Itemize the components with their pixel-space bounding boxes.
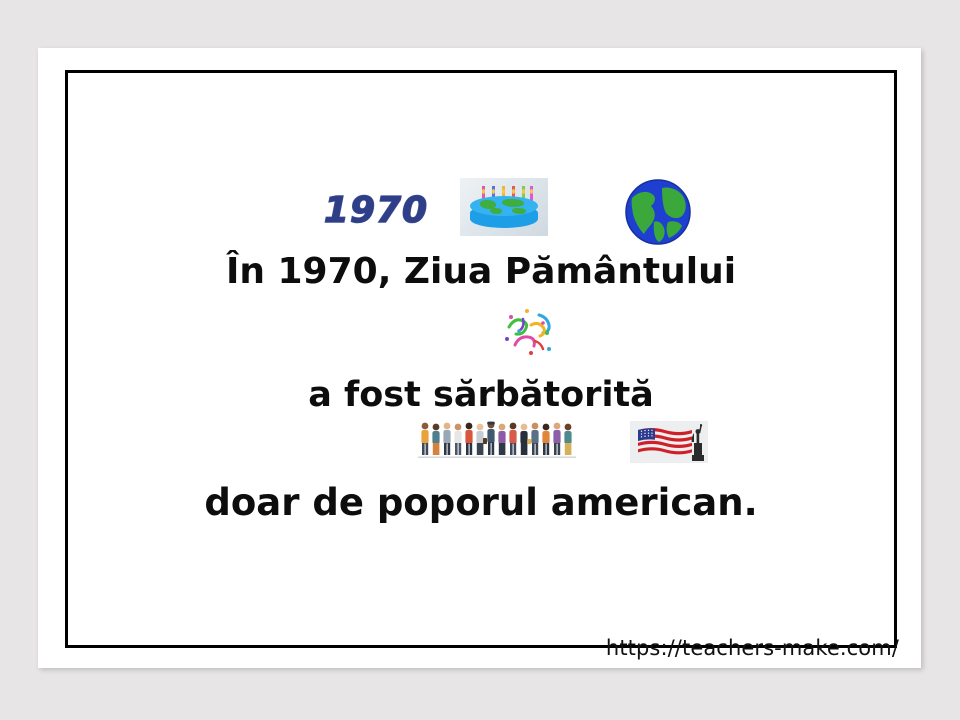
slide-text-line-3: doar de poporul american. (68, 481, 894, 524)
footer-url[interactable]: https://teachers-make.com/ (606, 636, 899, 660)
slide-text-line-1: În 1970, Ziua Pământului (68, 251, 894, 292)
earth-cake-icon (460, 178, 548, 236)
year-badge: 1970 (316, 188, 436, 234)
cake-continent (502, 199, 524, 207)
slide-inner-border: 1970 (65, 70, 897, 648)
slide-text-line-2: a fost sărbătorită (68, 375, 894, 415)
globe-icon (624, 178, 692, 246)
top-icon-row: 1970 (68, 178, 894, 258)
cake-continent (512, 208, 526, 214)
people-group-icon (418, 421, 576, 459)
slide-card: 1970 (38, 48, 921, 668)
cake-continent (490, 208, 502, 214)
american-flag-icon (630, 421, 708, 463)
confetti-icon (501, 305, 557, 357)
